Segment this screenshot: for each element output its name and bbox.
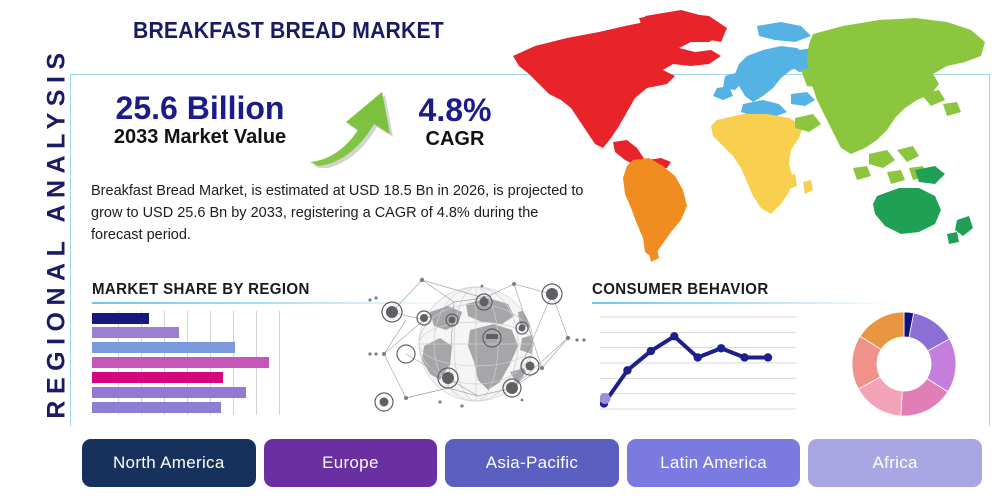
- line-chart-marker: [670, 332, 678, 340]
- region-button-asia-pacific[interactable]: Asia-Pacific: [445, 439, 619, 487]
- consumer-behavior-line-chart: [600, 309, 796, 419]
- bar-fill: [92, 372, 223, 383]
- kpi-market-value-caption: 2033 Market Value: [90, 126, 310, 149]
- line-chart-marker: [647, 347, 655, 355]
- kpi-row: 25.6 Billion 2033 Market Value 4.8% CAGR: [90, 92, 510, 170]
- bar-chart-bar: [92, 327, 179, 338]
- heading-consumer-behavior: CONSUMER BEHAVIOR: [592, 281, 769, 299]
- bar-chart-bar: [92, 372, 223, 383]
- bar-fill: [92, 357, 269, 368]
- line-chart-first-marker-highlight: [600, 393, 611, 404]
- line-chart-marker: [764, 353, 772, 361]
- map-region-oceania: [873, 166, 973, 244]
- bar-chart-bar: [92, 313, 149, 324]
- world-map-icon: [495, 8, 995, 270]
- region-button-north-america[interactable]: North America: [82, 439, 256, 487]
- line-chart-marker: [717, 344, 725, 352]
- bar-fill: [92, 313, 149, 324]
- consumer-segments-donut-chart: [849, 309, 959, 419]
- line-chart-marker: [740, 353, 748, 361]
- infographic-root: REGIONAL ANALYSIS BREAKFAST BREAD MARKET…: [0, 0, 1000, 500]
- regional-analysis-side-label: REGIONAL ANALYSIS: [43, 38, 72, 428]
- bar-fill: [92, 387, 246, 398]
- region-button-europe[interactable]: Europe: [264, 439, 438, 487]
- map-region-south-america: [623, 158, 687, 262]
- bar-fill: [92, 402, 221, 413]
- line-chart-marker: [694, 353, 702, 361]
- kpi-cagr-caption: CAGR: [400, 128, 510, 151]
- region-button-latin-america[interactable]: Latin America: [627, 439, 801, 487]
- bar-chart-bar: [92, 342, 235, 353]
- map-region-africa: [711, 114, 813, 214]
- line-chart-marker: [623, 366, 631, 374]
- kpi-market-value-number: 25.6 Billion: [90, 92, 310, 126]
- region-button-africa[interactable]: Africa: [808, 439, 982, 487]
- bar-fill: [92, 327, 179, 338]
- bar-chart-bar: [92, 387, 246, 398]
- bar-chart-bar: [92, 357, 269, 368]
- bar-chart-gridline: [279, 311, 280, 415]
- kpi-cagr: 4.8% CAGR: [400, 94, 510, 151]
- market-share-bar-chart: [92, 311, 282, 415]
- bar-chart-bar: [92, 402, 221, 413]
- heading-market-share-by-region: MARKET SHARE BY REGION: [92, 281, 310, 299]
- bar-fill: [92, 342, 235, 353]
- map-region-asia: [795, 18, 985, 184]
- growth-arrow-icon: [308, 86, 408, 168]
- globe-network-icon: [362, 268, 590, 424]
- heading-rule-consumer-behavior: [592, 302, 892, 304]
- kpi-market-value: 25.6 Billion 2033 Market Value: [90, 92, 310, 149]
- page-title: BREAKFAST BREAD MARKET: [133, 17, 444, 44]
- kpi-cagr-number: 4.8%: [400, 94, 510, 128]
- region-button-bar: North AmericaEuropeAsia-PacificLatin Ame…: [82, 439, 982, 487]
